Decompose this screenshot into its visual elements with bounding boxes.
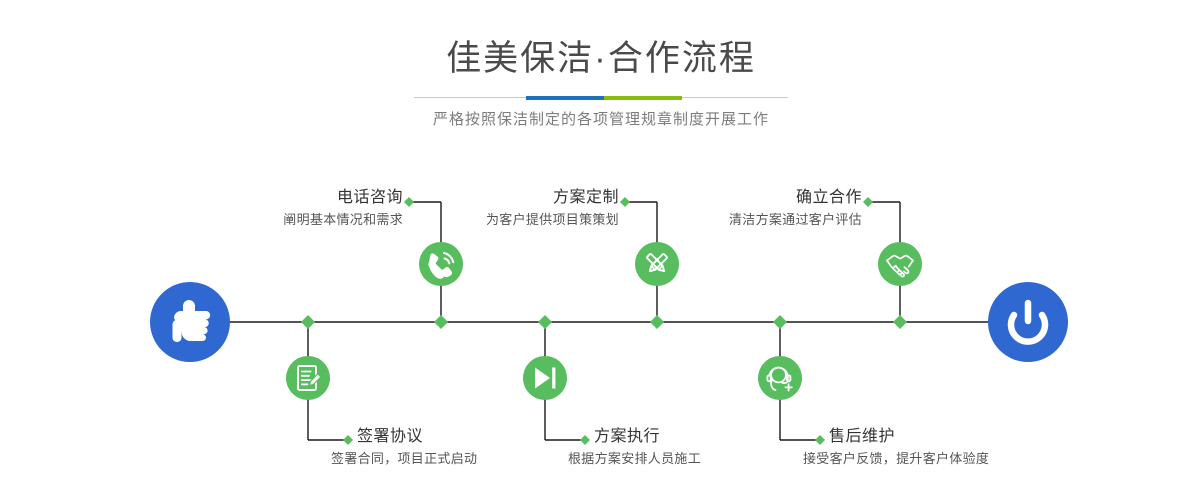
step-icon-1[interactable] — [419, 242, 463, 286]
step-icon-5[interactable] — [878, 242, 922, 286]
step-5-circle — [878, 242, 922, 286]
step-icon-6[interactable] — [758, 356, 802, 400]
step-2-title: 签署协议 — [357, 427, 617, 447]
label-anchor-markers — [343, 197, 873, 445]
axis-diamond-5 — [773, 315, 787, 329]
axis-diamond-6 — [893, 315, 907, 329]
step-label-6: 售后维护 接受客户反馈，提升客户体验度 — [829, 427, 1119, 468]
step-icon-3[interactable] — [635, 242, 679, 286]
axis-diamond-4 — [650, 315, 664, 329]
step-6-title: 售后维护 — [829, 427, 1119, 447]
step-6-circle — [758, 356, 802, 400]
start-node[interactable] — [150, 282, 230, 362]
step-2-circle — [286, 356, 330, 400]
step-icon-4[interactable] — [523, 356, 567, 400]
step-icon-2[interactable] — [286, 356, 330, 400]
step-6-desc: 接受客户反馈，提升客户体验度 — [803, 450, 1119, 468]
step-3-desc: 为客户提供项目策策划 — [411, 211, 619, 229]
step-3-title: 方案定制 — [411, 188, 619, 208]
step-label-3: 方案定制 为客户提供项目策策划 — [411, 188, 619, 229]
step-label-1: 电话咨询 阐明基本情况和需求 — [195, 188, 403, 229]
axis-diamond-3 — [538, 315, 552, 329]
axis-diamond-2 — [434, 315, 448, 329]
axis-diamond-1 — [301, 315, 315, 329]
step-5-title: 确立合作 — [654, 188, 862, 208]
step-5-desc: 清洁方案通过客户评估 — [654, 211, 862, 229]
end-node[interactable] — [988, 282, 1068, 362]
step-1-title: 电话咨询 — [195, 188, 403, 208]
step-4-title: 方案执行 — [594, 427, 854, 447]
step-1-circle — [419, 242, 463, 286]
step-label-5: 确立合作 清洁方案通过客户评估 — [654, 188, 862, 229]
step-3-circle — [635, 242, 679, 286]
step-1-desc: 阐明基本情况和需求 — [195, 211, 403, 229]
process-flow-infographic: 佳美保洁·合作流程 严格按照保洁制定的各项管理规章制度开展工作 — [0, 0, 1202, 502]
